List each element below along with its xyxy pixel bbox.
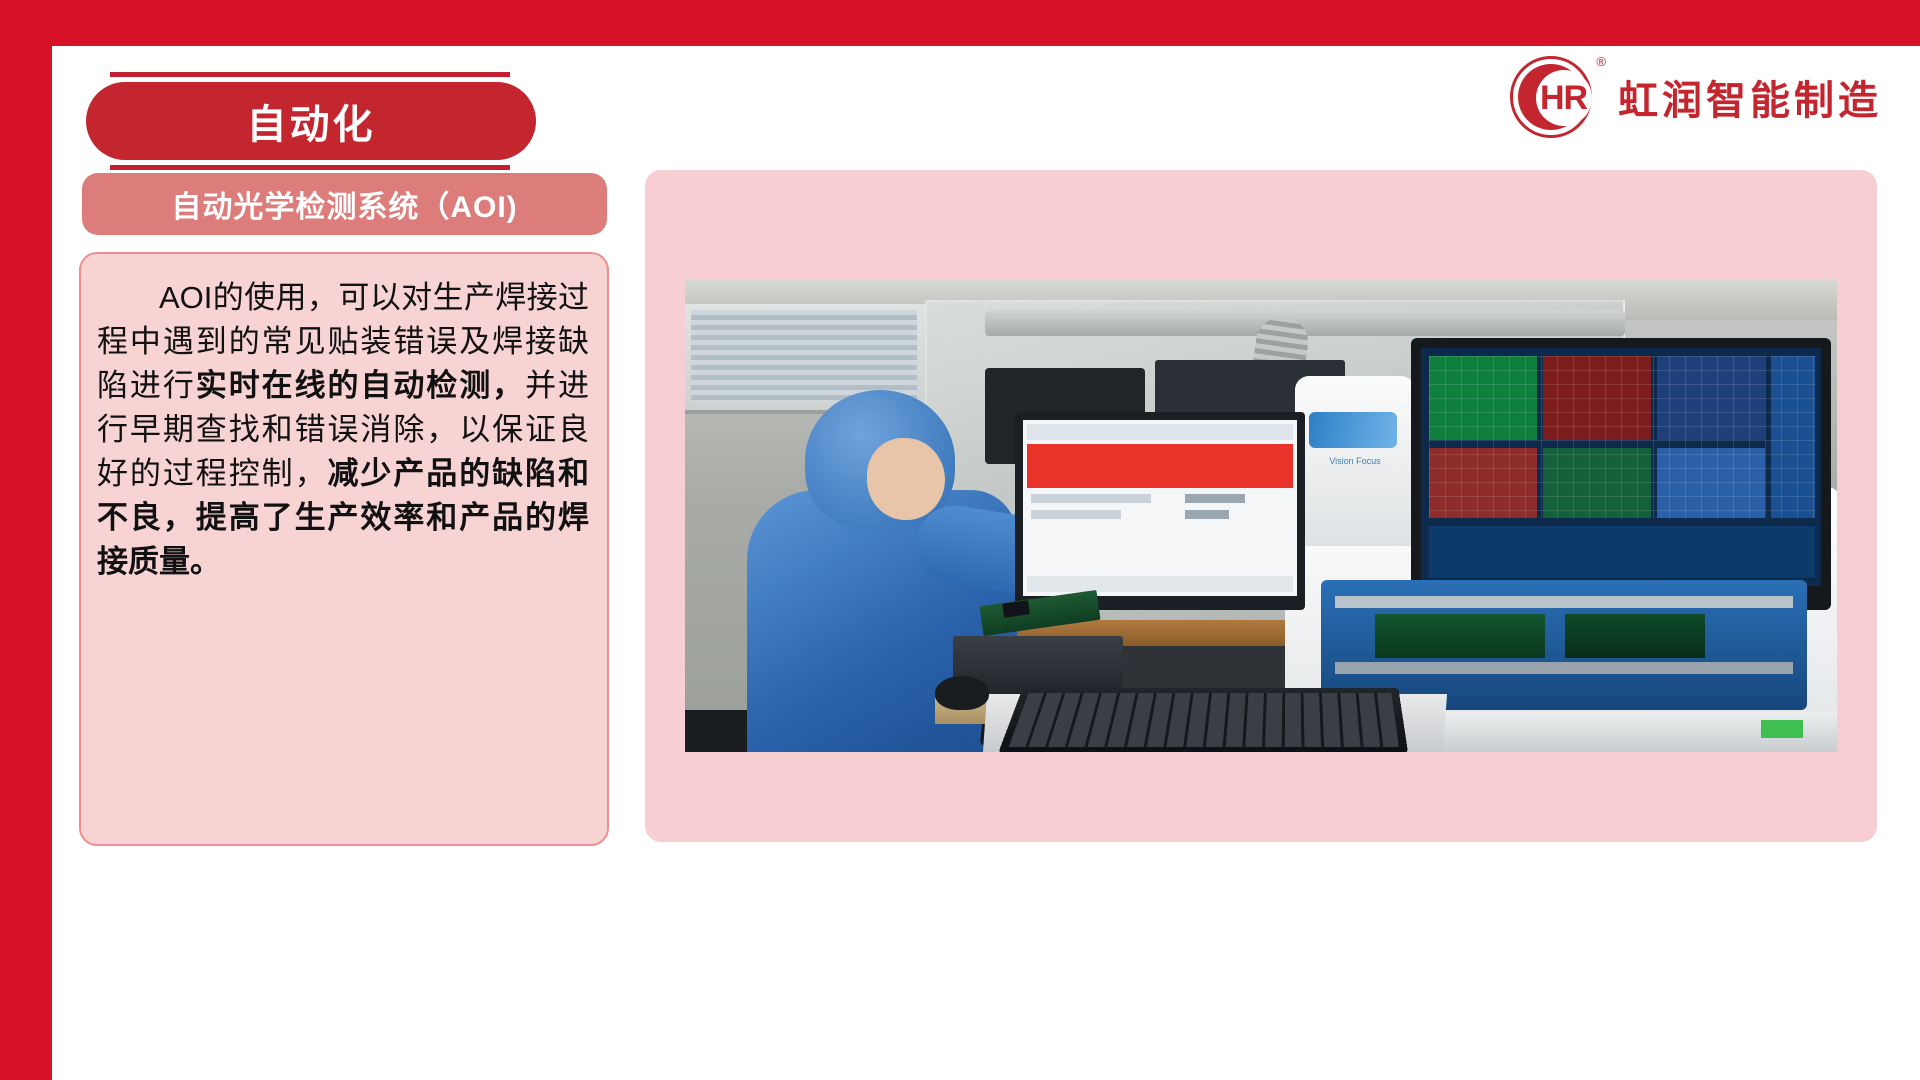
body-text-card: AOI的使用，可以对生产焊接过程中遇到的常见贴装错误及焊接缺陷进行实时在线的自动…: [79, 252, 609, 846]
photo-screen-tile: [1429, 526, 1815, 578]
slide-root: 自动化 自动光学检测系统（AOI) AOI的使用，可以对生产焊接过程中遇到的常见…: [0, 0, 1920, 1080]
photo-worker-face: [867, 438, 945, 520]
brand-name: 虹润智能制造: [1618, 68, 1882, 126]
body-paragraph: AOI的使用，可以对生产焊接过程中遇到的常见贴装错误及焊接缺陷进行实时在线的自动…: [97, 276, 589, 584]
photo-aoi-pcb: [1375, 614, 1545, 658]
body-bold-1: 实时在线的自动检测，: [196, 368, 525, 403]
photo-keyboard-keys: [1009, 693, 1399, 747]
photo-aoi-indicator: [1761, 720, 1803, 738]
section-subtitle: 自动光学检测系统（AOI): [171, 182, 517, 226]
photo-mouse: [935, 676, 989, 710]
page-title-group: 自动化: [98, 72, 498, 170]
photo-aoi-brand-mark: [1309, 412, 1397, 448]
photo-panel: Vision Focus: [645, 170, 1877, 842]
section-subtitle-bar: 自动光学检测系统（AOI): [82, 173, 607, 235]
factory-photo: Vision Focus: [685, 280, 1837, 752]
photo-aoi-brand-text: Vision Focus: [1307, 456, 1403, 466]
brand-logo-block: HR ® 虹润智能制造: [1510, 56, 1882, 138]
photo-monitor-footer-row: [1027, 576, 1293, 592]
photo-monitor-alert-band: [1027, 444, 1293, 488]
page-title: 自动化: [247, 92, 376, 150]
photo-blinds: [691, 310, 917, 402]
photo-aoi-rail: [1335, 662, 1793, 674]
registered-mark-icon: ®: [1596, 54, 1606, 69]
hr-logo-icon: HR ®: [1510, 56, 1592, 138]
photo-monitor-header-row: [1027, 424, 1293, 440]
logo-letters: HR: [1540, 80, 1592, 116]
photo-monitor-row: [1185, 494, 1245, 503]
left-red-bar: [0, 0, 52, 1080]
photo-monitor-row: [1031, 494, 1151, 503]
photo-aoi-pcb: [1565, 614, 1705, 658]
photo-aoi-rail: [1335, 596, 1793, 608]
page-title-pill: 自动化: [86, 82, 536, 160]
title-rule-bottom: [110, 165, 510, 170]
photo-screen-grid: [1429, 356, 1815, 518]
title-rule-top: [110, 72, 510, 77]
top-red-bar: [0, 0, 1920, 46]
photo-monitor-row: [1031, 510, 1121, 519]
photo-monitor-row: [1185, 510, 1229, 519]
